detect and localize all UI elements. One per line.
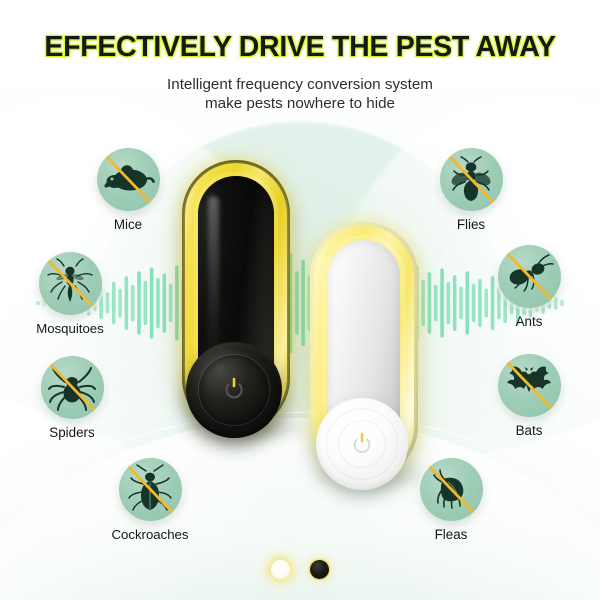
pest-badge-ants[interactable]: Ants	[490, 245, 568, 329]
ant-icon	[498, 245, 561, 308]
pest-badge-flies[interactable]: Flies	[432, 148, 510, 232]
page-subtitle: Intelligent frequency conversion system …	[0, 75, 600, 113]
pest-badge-mosquitoes[interactable]: Mosquitoes	[31, 252, 109, 336]
pest-label: Fleas	[412, 527, 490, 542]
pest-badge-bats[interactable]: Bats	[490, 354, 568, 438]
subtitle-line-1: Intelligent frequency conversion system	[167, 76, 433, 93]
pest-label: Spiders	[33, 425, 111, 440]
color-swatch-cream[interactable]	[271, 560, 290, 579]
pest-label: Mosquitoes	[31, 321, 109, 336]
pest-badge-spiders[interactable]: Spiders	[33, 356, 111, 440]
header-block: EFFECTIVELY DRIVE THE PEST AWAY Intellig…	[0, 0, 600, 113]
spider-icon	[41, 356, 104, 419]
pest-label: Cockroaches	[111, 527, 189, 542]
product-marketing-banner: EFFECTIVELY DRIVE THE PEST AWAY Intellig…	[0, 0, 600, 600]
color-swatch-black[interactable]	[310, 560, 329, 579]
pest-badge-cockroaches[interactable]: Cockroaches	[111, 458, 189, 542]
subtitle-line-2: make pests nowhere to hide	[0, 94, 600, 113]
cockroach-icon	[119, 458, 182, 521]
color-swatch-group	[0, 560, 600, 579]
mouse-icon	[97, 148, 160, 211]
pest-label: Mice	[89, 217, 167, 232]
pest-label: Flies	[432, 217, 510, 232]
fly-icon	[440, 148, 503, 211]
pest-label: Ants	[490, 314, 568, 329]
bat-icon	[498, 354, 561, 417]
page-title: EFFECTIVELY DRIVE THE PEST AWAY	[0, 31, 600, 64]
flea-icon	[420, 458, 483, 521]
pest-label: Bats	[490, 423, 568, 438]
pest-badge-mice[interactable]: Mice	[89, 148, 167, 232]
mosquito-icon	[39, 252, 102, 315]
pest-badge-fleas[interactable]: Fleas	[412, 458, 490, 542]
